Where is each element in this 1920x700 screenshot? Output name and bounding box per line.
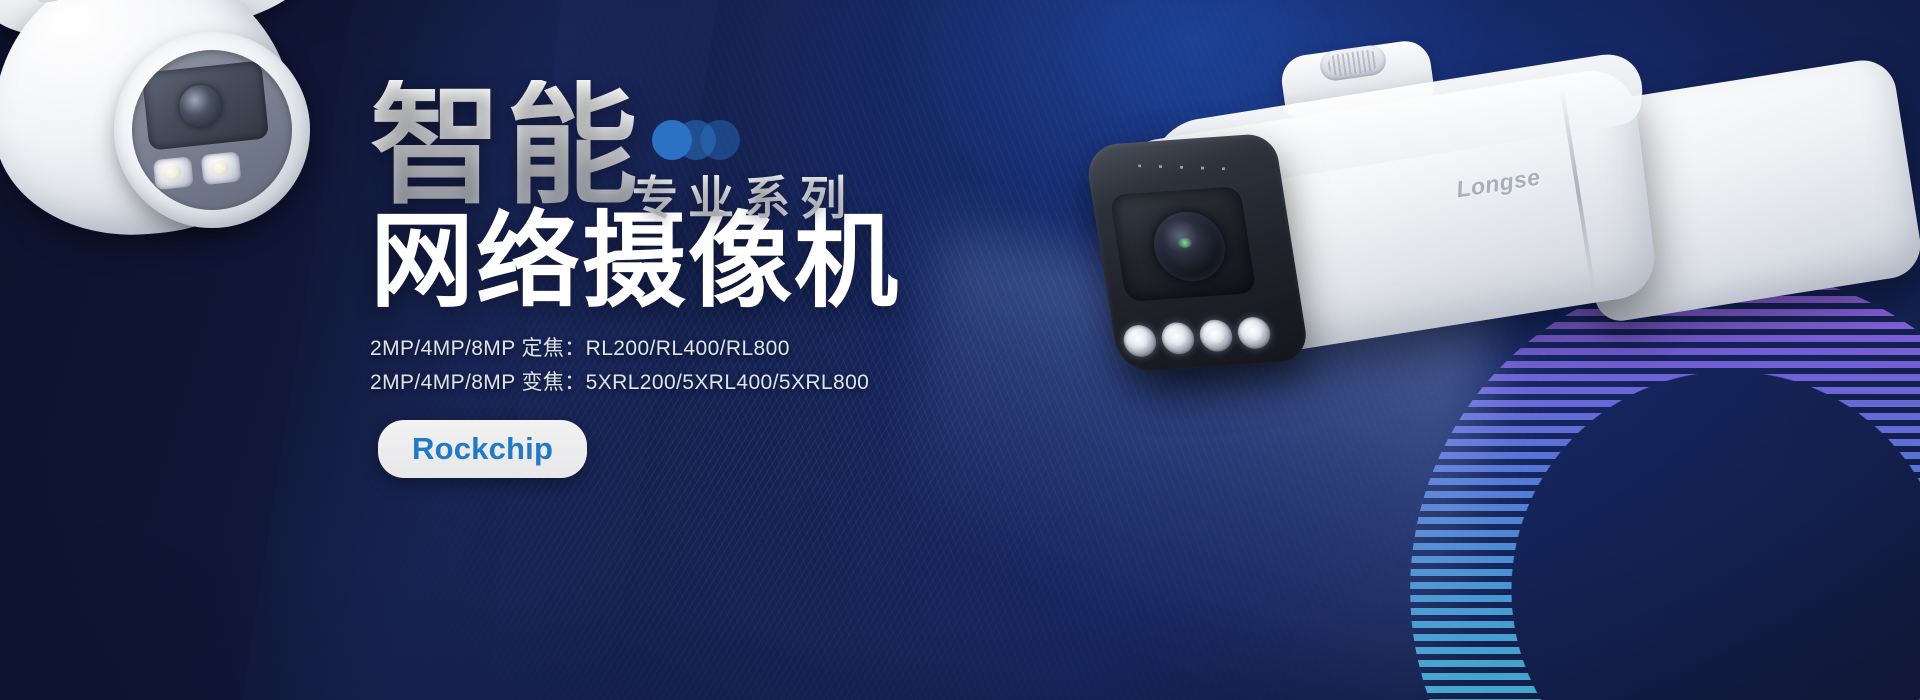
- spec-list: 2MP/4MP/8MP 定焦：RL200/RL400/RL800 2MP/4MP…: [370, 332, 1010, 400]
- bullet-camera-lens-housing: [1109, 186, 1256, 302]
- dome-camera-led-right: [201, 151, 242, 185]
- headline-block: 智能 专业系列 网络摄像机 2MP/4MP/8MP 定焦：RL200/RL400…: [370, 70, 1010, 478]
- headline-primary: 智能: [370, 80, 642, 212]
- bullet-camera-led: [1198, 319, 1235, 353]
- dot-faint: [700, 120, 740, 160]
- headline-subtitle: 专业系列: [632, 162, 856, 228]
- promo-banner: Longse 智能 专业系列 网络摄像机 2MP/4MP/8MP 定焦：RL20…: [0, 0, 1920, 700]
- three-dots-icon: [652, 120, 736, 160]
- spec-line-fixed-focus: 2MP/4MP/8MP 定焦：RL200/RL400/RL800: [370, 332, 1010, 366]
- chipset-badge: Rockchip: [378, 420, 587, 478]
- bullet-camera-image: Longse: [1020, 18, 1920, 488]
- bullet-camera-led: [1236, 316, 1273, 350]
- spec-line-varifocal: 2MP/4MP/8MP 变焦：5XRL200/5XRL400/5XRL800: [370, 366, 1010, 400]
- dome-camera-image: [0, 0, 326, 270]
- dome-camera-optic: [142, 60, 269, 150]
- dome-camera-led-left: [153, 156, 194, 190]
- dome-camera-faceplate: [124, 42, 300, 218]
- bullet-camera-lens: [1149, 210, 1230, 284]
- bullet-camera-led: [1121, 324, 1158, 358]
- bullet-camera-led: [1159, 321, 1196, 355]
